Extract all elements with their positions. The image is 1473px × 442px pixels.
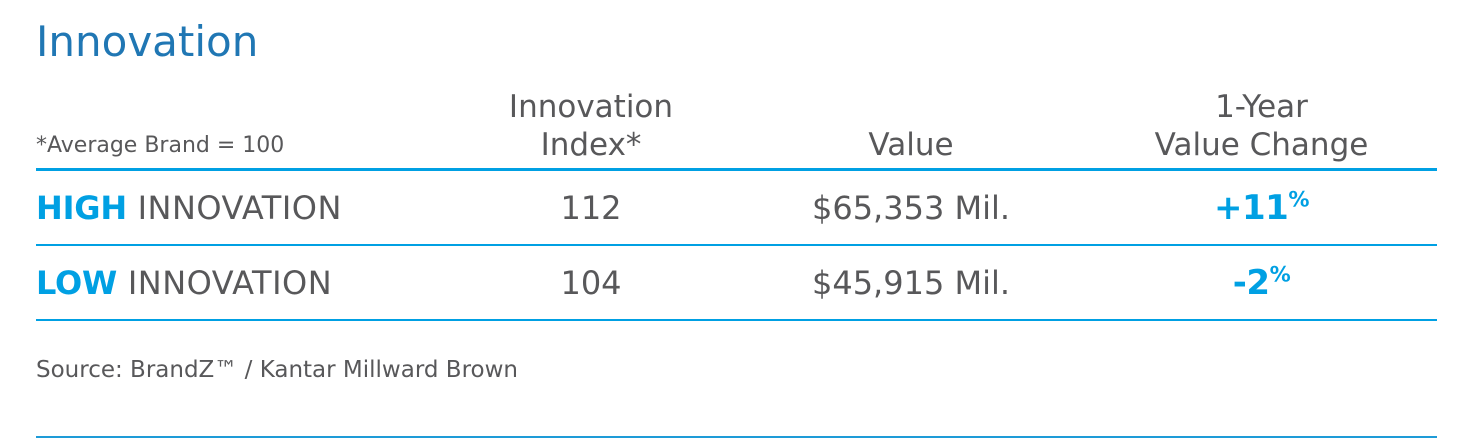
table-row: LOW INNOVATION 104 $45,915 Mil. -2% bbox=[36, 246, 1437, 319]
column-header-innovation-index: Innovation Index* bbox=[446, 88, 736, 164]
percent-sign: % bbox=[1288, 186, 1309, 211]
source-attribution: Source: BrandZ™ / Kantar Millward Brown bbox=[36, 355, 518, 385]
innovation-table: *Average Brand = 100 Innovation Index* V… bbox=[36, 78, 1437, 321]
page-title: Innovation bbox=[36, 18, 258, 66]
column-header-value-label: Value bbox=[736, 126, 1086, 164]
value-change-badge: -2% bbox=[1233, 263, 1290, 303]
cell-value: $65,353 Mil. bbox=[736, 188, 1086, 228]
column-header-value-change-line1: 1-Year bbox=[1086, 88, 1437, 126]
segment-rest-label: INNOVATION bbox=[117, 264, 332, 302]
innovation-table-figure: Innovation *Average Brand = 100 Innovati… bbox=[0, 0, 1473, 442]
column-header-value-change-line2: Value Change bbox=[1086, 126, 1437, 164]
row-label-high-innovation: HIGH INNOVATION bbox=[36, 188, 446, 228]
cell-innovation-index: 112 bbox=[446, 188, 736, 228]
column-header-innovation-index-line2: Index* bbox=[446, 126, 736, 164]
segment-rest-label: INNOVATION bbox=[127, 189, 342, 227]
table-row: HIGH INNOVATION 112 $65,353 Mil. +11% bbox=[36, 171, 1437, 244]
value-change-badge: +11% bbox=[1214, 188, 1309, 228]
cell-innovation-index: 104 bbox=[446, 263, 736, 303]
table-bottom-rule bbox=[36, 319, 1437, 321]
footer-rule bbox=[36, 436, 1437, 438]
column-header-value-change: 1-Year Value Change bbox=[1086, 88, 1437, 164]
segment-strong-label: LOW bbox=[36, 264, 117, 302]
column-header-value: Value bbox=[736, 126, 1086, 164]
cell-value-change: -2% bbox=[1086, 263, 1437, 303]
average-brand-footnote: *Average Brand = 100 bbox=[36, 132, 446, 164]
value-change-number: +11 bbox=[1214, 188, 1288, 228]
cell-value: $45,915 Mil. bbox=[736, 263, 1086, 303]
column-header-innovation-index-line1: Innovation bbox=[446, 88, 736, 126]
percent-sign: % bbox=[1270, 261, 1291, 286]
value-change-number: -2 bbox=[1233, 263, 1270, 303]
table-header-row: *Average Brand = 100 Innovation Index* V… bbox=[36, 78, 1437, 168]
segment-strong-label: HIGH bbox=[36, 189, 127, 227]
row-label-low-innovation: LOW INNOVATION bbox=[36, 263, 446, 303]
cell-value-change: +11% bbox=[1086, 188, 1437, 228]
